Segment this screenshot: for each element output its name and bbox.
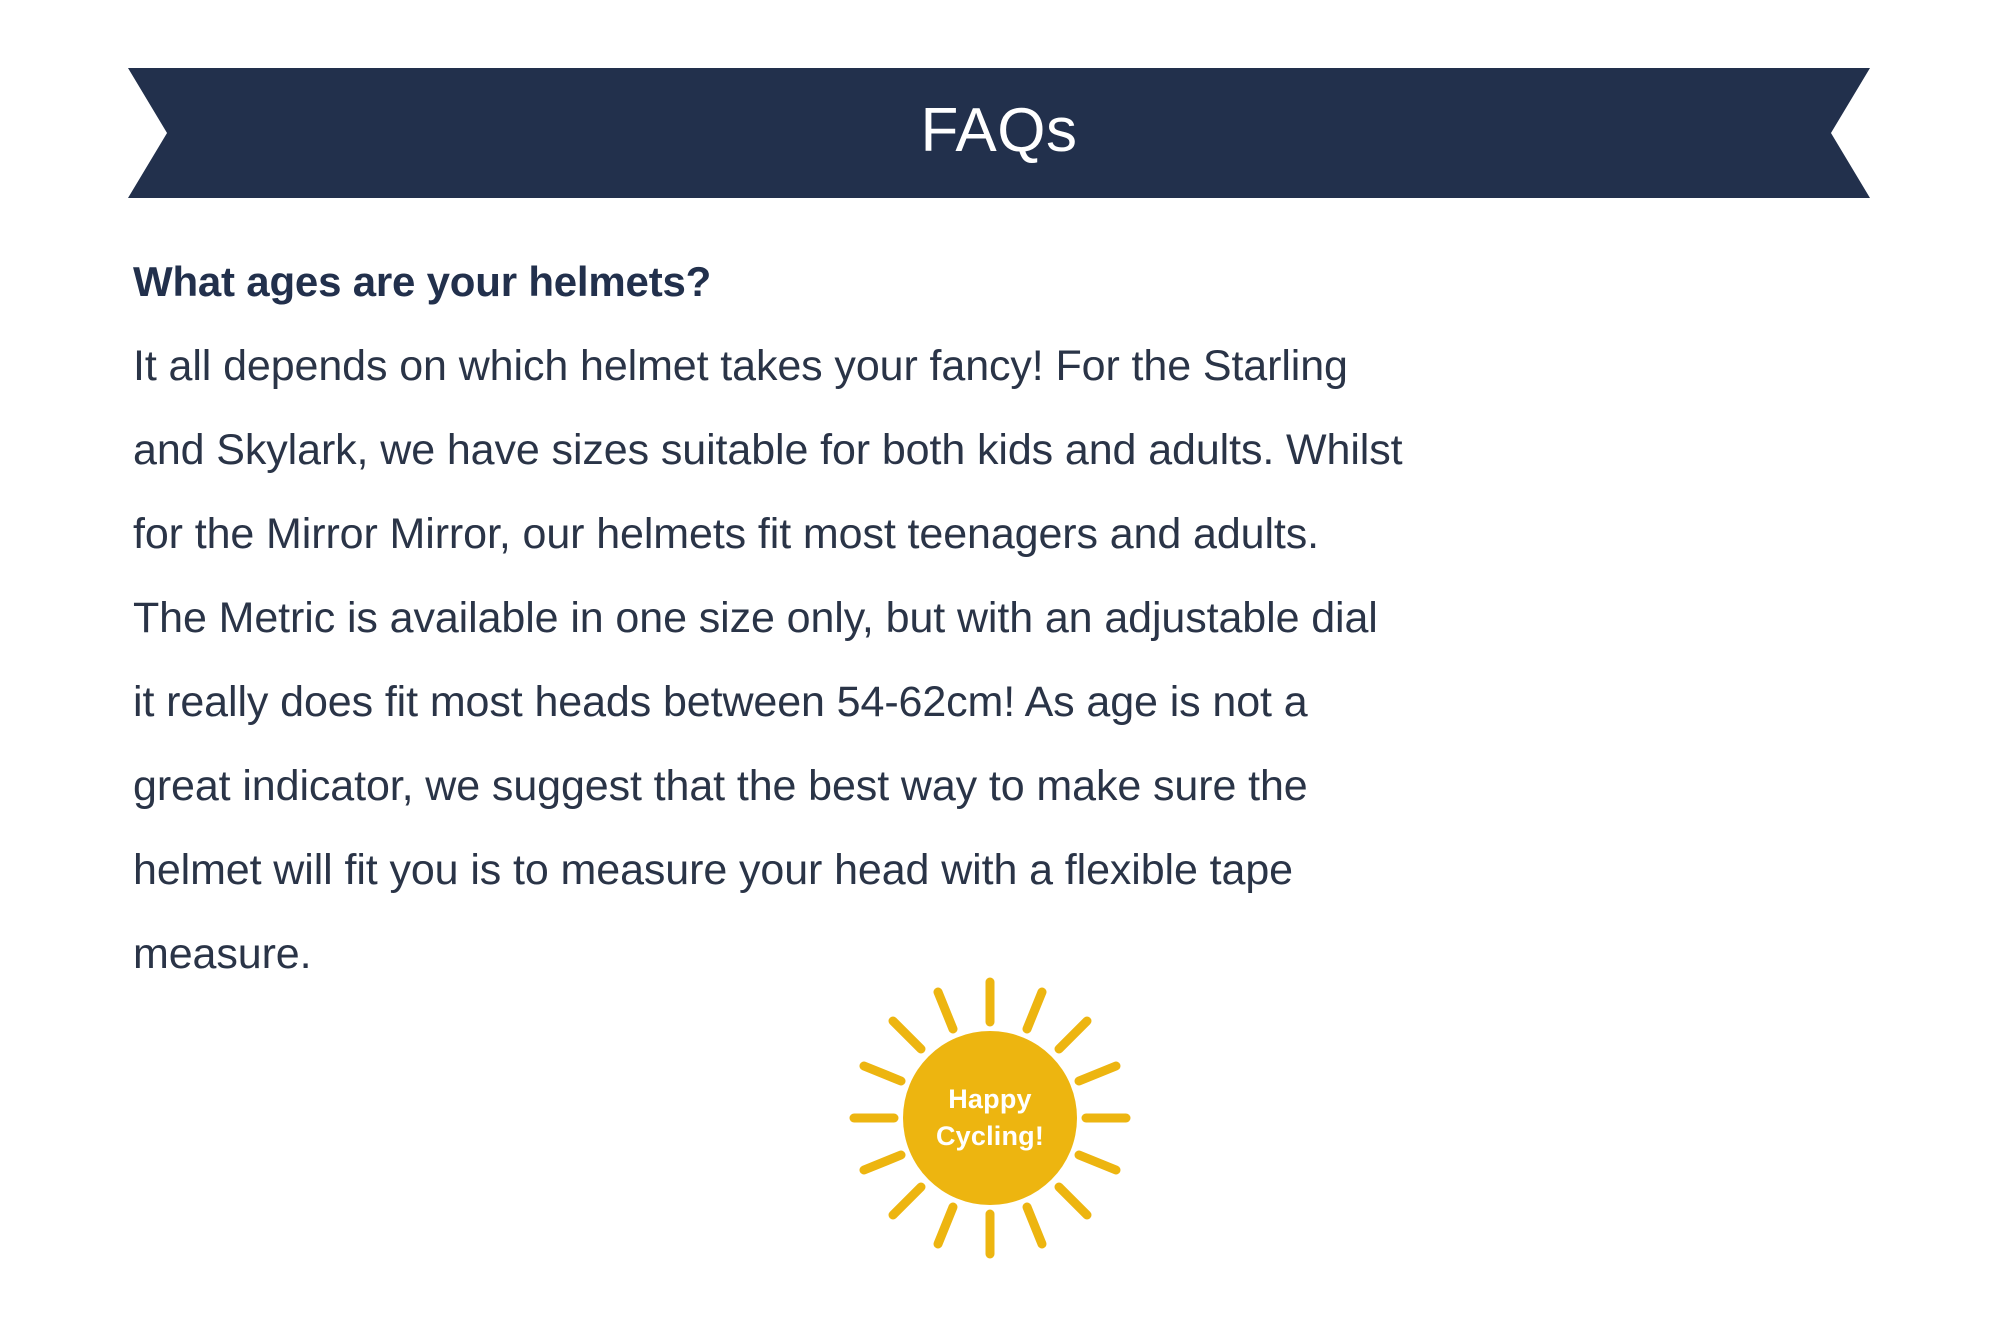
answer-line: helmet will fit you is to measure your h… (133, 828, 1893, 912)
answer-line: it really does fit most heads between 54… (133, 660, 1893, 744)
happy-cycling-sun-badge: Happy Cycling! (840, 968, 1140, 1268)
faq-page: FAQs What ages are your helmets? It all … (0, 0, 2000, 1333)
faq-answer: It all depends on which helmet takes you… (133, 324, 1893, 996)
answer-line: great indicator, we suggest that the bes… (133, 744, 1893, 828)
faq-question: What ages are your helmets? (133, 258, 1893, 306)
faq-content: What ages are your helmets? It all depen… (133, 258, 1893, 996)
answer-line: and Skylark, we have sizes suitable for … (133, 408, 1893, 492)
sun-icon (840, 968, 1140, 1268)
faq-banner: FAQs (128, 68, 1870, 198)
answer-line: It all depends on which helmet takes you… (133, 324, 1893, 408)
answer-line: for the Mirror Mirror, our helmets fit m… (133, 492, 1893, 576)
sun-disc (903, 1031, 1077, 1205)
answer-line: The Metric is available in one size only… (133, 576, 1893, 660)
page-title: FAQs (920, 100, 1077, 166)
